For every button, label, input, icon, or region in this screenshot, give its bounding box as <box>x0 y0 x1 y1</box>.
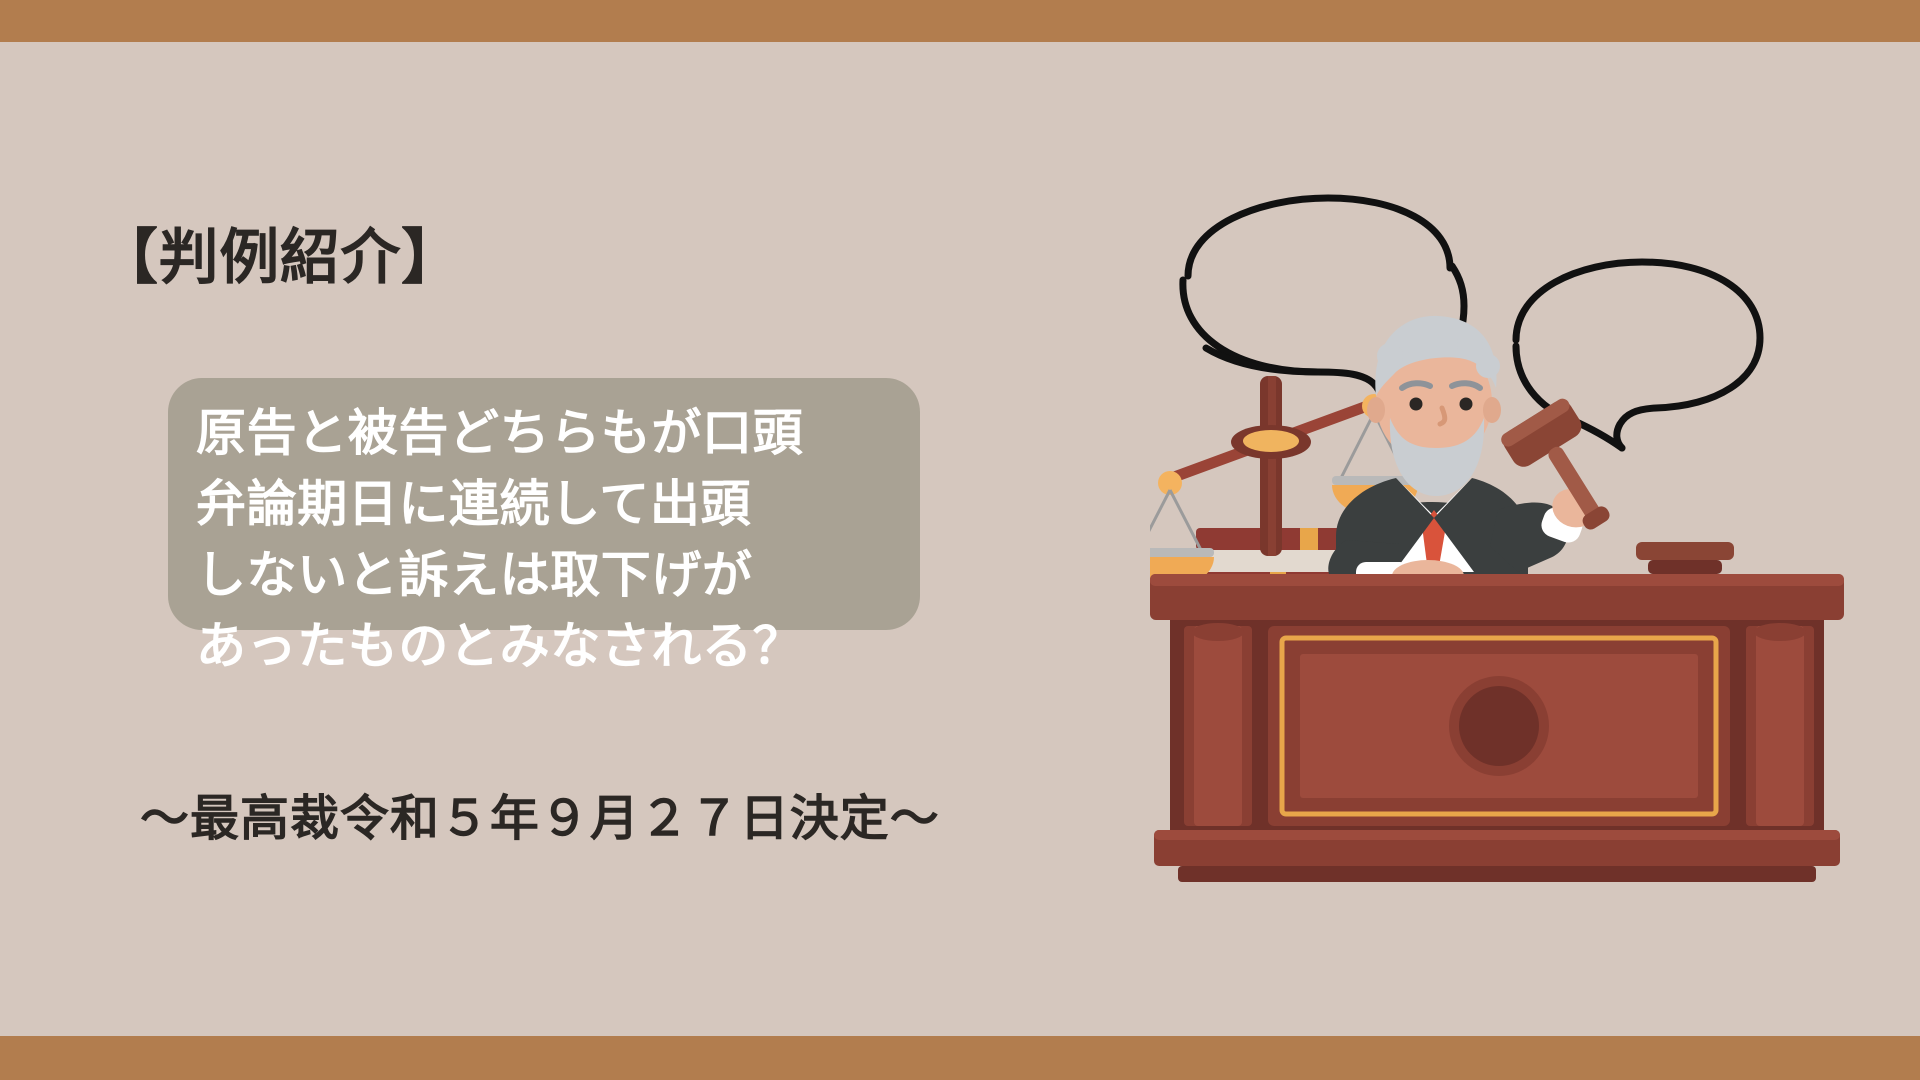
quote-text-block: 原告と被告どちらもが口頭 弁論期日に連続して出頭 しないと訴えは取下げが あった… <box>196 398 906 682</box>
poster-canvas: 【判例紹介】 原告と被告どちらもが口頭 弁論期日に連続して出頭 しないと訴えは取… <box>0 0 1920 1080</box>
case-citation-caption: 〜最高裁令和５年９月２７日決定〜 <box>140 790 940 849</box>
page-title: 【判例紹介】 <box>98 228 462 288</box>
quote-line-1: 原告と被告どちらもが口頭 <box>196 398 906 469</box>
top-color-band <box>0 0 1920 42</box>
quote-line-2: 弁論期日に連続して出頭 <box>196 469 906 540</box>
judge-courtroom-illustration <box>1150 180 1920 1020</box>
gavel-block-icon <box>1636 542 1734 574</box>
quote-line-4: あったものとみなされる？ <box>196 611 906 682</box>
judge-bench <box>1150 574 1844 882</box>
quote-line-3: しないと訴えは取下げが <box>196 540 906 611</box>
bottom-color-band <box>0 1036 1920 1080</box>
